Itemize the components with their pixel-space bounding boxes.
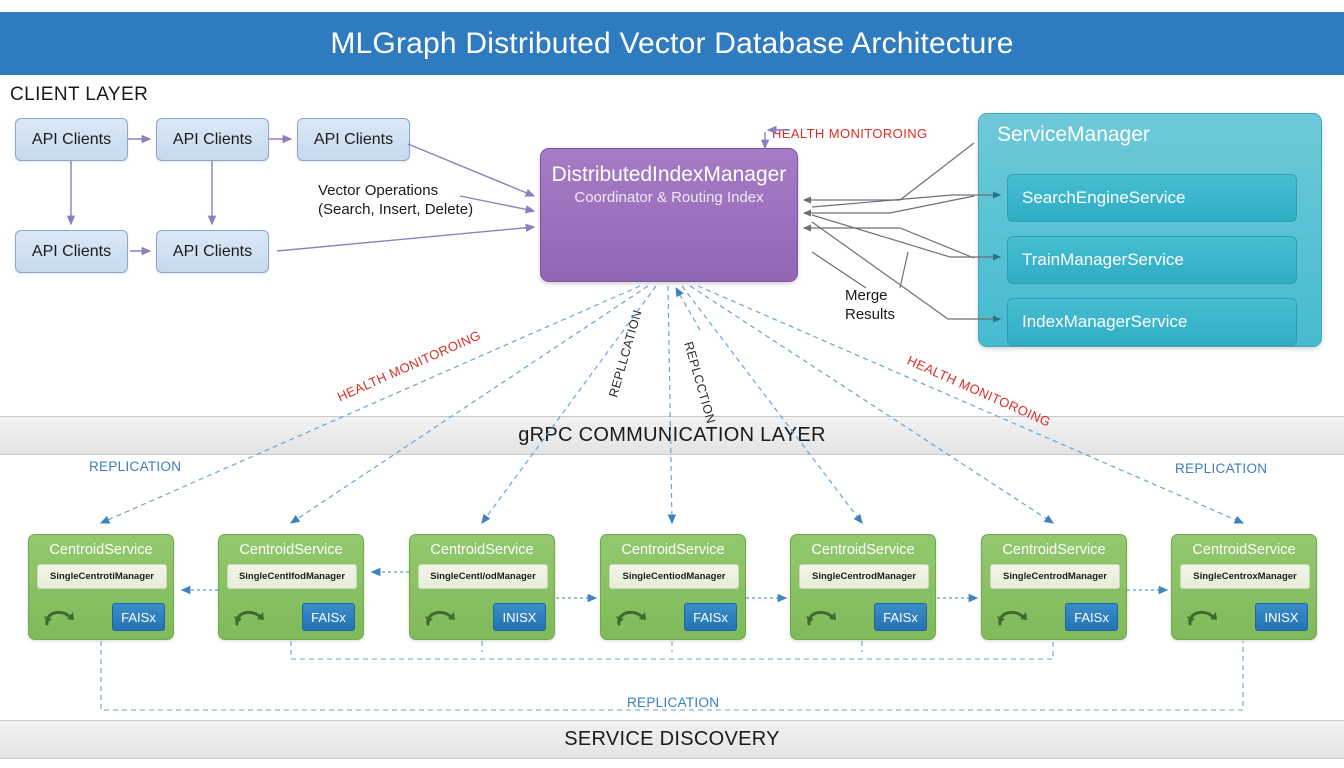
- service-item-label: TrainManagerService: [1022, 250, 1184, 270]
- replication-label-top-left: REPLICATION: [89, 459, 181, 474]
- api-client-label: API Clients: [32, 131, 111, 149]
- faiss-index-badge: FAISx: [684, 603, 737, 631]
- vector-operations-line1: Vector Operations: [318, 182, 473, 201]
- health-monitoring-label-left: HEALTH MONITOROING: [335, 327, 483, 404]
- grpc-communication-layer-band: gRPC COMMUNICATION LAYER: [0, 416, 1344, 455]
- centroid-service-node[interactable]: CentroidServiceSingleCentIfodManagerFAIS…: [218, 534, 364, 640]
- refresh-loop-icon: [229, 600, 271, 635]
- centroid-service-title: CentroidService: [1172, 535, 1316, 558]
- coordinator-subtitle: Coordinator & Routing Index: [541, 189, 797, 206]
- refresh-loop-icon: [39, 600, 81, 635]
- faiss-index-badge: FAISx: [1065, 603, 1118, 631]
- centroid-service-node[interactable]: CentroidServiceSingleCentrotiManagerFAIS…: [28, 534, 174, 640]
- refresh-loop-icon: [420, 600, 462, 635]
- api-client-box[interactable]: API Clients: [15, 230, 128, 273]
- refresh-loop-icon: [611, 600, 653, 635]
- single-centroid-manager-box: SingleCentl/odManager: [418, 564, 548, 589]
- faiss-index-badge: FAISx: [874, 603, 927, 631]
- service-item-label: IndexManagerService: [1022, 312, 1187, 332]
- refresh-loop-icon: [1182, 600, 1224, 635]
- api-client-label: API Clients: [314, 131, 393, 149]
- centroid-service-node[interactable]: CentroidServiceSingleCentrodManagerFAISx: [981, 534, 1127, 640]
- health-monitoring-label-top: HEALTH MONITOROING: [772, 126, 928, 141]
- single-centroid-manager-box: SingleCentrodManager: [799, 564, 929, 589]
- single-centroid-manager-box: SingleCentroxManager: [1180, 564, 1310, 589]
- faiss-index-badge: INISX: [493, 603, 546, 631]
- centroid-service-title: CentroidService: [982, 535, 1126, 558]
- distributed-index-manager-node[interactable]: DistributedIndexManager Coordinator & Ro…: [540, 148, 798, 282]
- service-item-label: SearchEngineService: [1022, 188, 1185, 208]
- replication-label-top-right: REPLICATION: [1175, 461, 1267, 476]
- service-item-2[interactable]: IndexManagerService: [1007, 298, 1297, 346]
- api-client-box[interactable]: API Clients: [15, 118, 128, 161]
- centroid-service-title: CentroidService: [410, 535, 554, 558]
- vector-operations-line2: (Search, Insert, Delete): [318, 201, 473, 220]
- centroid-service-title: CentroidService: [219, 535, 363, 558]
- merge-results-line1: Merge: [845, 287, 895, 306]
- centroid-service-title: CentroidService: [791, 535, 935, 558]
- replication-label-rotated-right: REPLCCTION: [681, 340, 718, 425]
- client-layer-label: CLIENT LAYER: [10, 84, 148, 106]
- centroid-service-node[interactable]: CentroidServiceSingleCentroxManagerINISX: [1171, 534, 1317, 640]
- single-centroid-manager-box: SingleCentiodManager: [609, 564, 739, 589]
- faiss-index-badge: FAISx: [112, 603, 165, 631]
- page-header: MLGraph Distributed Vector Database Arch…: [0, 12, 1344, 75]
- centroid-service-title: CentroidService: [29, 535, 173, 558]
- single-centroid-manager-box: SingleCentrodManager: [990, 564, 1120, 589]
- api-client-box[interactable]: API Clients: [156, 118, 269, 161]
- coordinator-title: DistributedIndexManager: [541, 163, 797, 187]
- service-manager-title: ServiceManager: [979, 114, 1321, 147]
- api-client-label: API Clients: [173, 243, 252, 261]
- refresh-loop-icon: [992, 600, 1034, 635]
- service-discovery-label: SERVICE DISCOVERY: [564, 728, 780, 751]
- service-manager-panel[interactable]: ServiceManager SearchEngineServiceTrainM…: [978, 113, 1322, 347]
- replication-label-rotated-left: REPLLCATION: [606, 308, 644, 399]
- faiss-index-badge: INISX: [1255, 603, 1308, 631]
- centroid-service-title: CentroidService: [601, 535, 745, 558]
- service-item-1[interactable]: TrainManagerService: [1007, 236, 1297, 284]
- faiss-index-badge: FAISx: [302, 603, 355, 631]
- single-centroid-manager-box: SingleCentrotiManager: [37, 564, 167, 589]
- vector-operations-label: Vector Operations (Search, Insert, Delet…: [318, 182, 473, 220]
- centroid-service-node[interactable]: CentroidServiceSingleCentl/odManagerINIS…: [409, 534, 555, 640]
- api-client-label: API Clients: [173, 131, 252, 149]
- centroid-service-node[interactable]: CentroidServiceSingleCentiodManagerFAISx: [600, 534, 746, 640]
- api-client-label: API Clients: [32, 243, 111, 261]
- merge-results-line2: Results: [845, 306, 895, 325]
- page-title: MLGraph Distributed Vector Database Arch…: [330, 27, 1013, 61]
- service-discovery-band: SERVICE DISCOVERY: [0, 720, 1344, 759]
- single-centroid-manager-box: SingleCentIfodManager: [227, 564, 357, 589]
- refresh-loop-icon: [801, 600, 843, 635]
- api-client-box[interactable]: API Clients: [156, 230, 269, 273]
- service-item-0[interactable]: SearchEngineService: [1007, 174, 1297, 222]
- api-client-box[interactable]: API Clients: [297, 118, 410, 161]
- replication-label-bottom: REPLICATION: [627, 695, 719, 710]
- grpc-layer-label: gRPC COMMUNICATION LAYER: [518, 424, 826, 447]
- centroid-service-node[interactable]: CentroidServiceSingleCentrodManagerFAISx: [790, 534, 936, 640]
- merge-results-label: Merge Results: [845, 287, 895, 325]
